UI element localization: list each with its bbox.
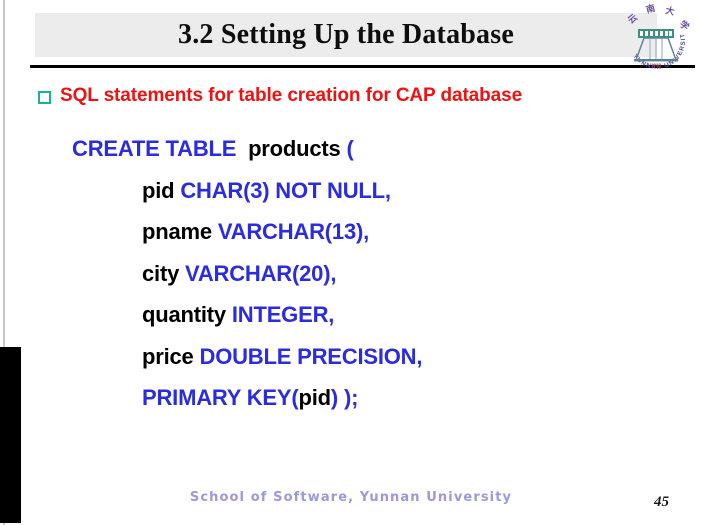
sql-code-line: city VARCHAR(20), [72,253,672,295]
svg-text:南: 南 [645,2,657,16]
sql-keyword: VARCHAR(13), [218,219,369,244]
sql-identifier: pid [142,178,174,203]
sql-identifier: price [142,344,194,369]
svg-text:云: 云 [626,12,640,26]
sql-keyword: ) ); [331,385,358,410]
hollow-square-bullet-icon [38,91,51,104]
bullet-text: SQL statements for table creation for CA… [60,85,522,107]
sql-identifier [236,136,248,161]
sql-identifier: pid [299,385,331,410]
svg-text:大: 大 [664,4,675,18]
yunnan-university-logo: YUNNAN UNIVERSITY 1923 [616,1,696,75]
bullet-row: SQL statements for table creation for CA… [38,82,678,110]
sql-code-line: PRIMARY KEY(pid) ); [72,377,672,419]
svg-text:学: 学 [677,18,691,33]
footer-label: School of Software, Yunnan University [0,490,702,505]
sql-code-line: pid CHAR(3) NOT NULL, [72,170,672,212]
sql-identifier: city [142,261,179,286]
sql-keyword: PRIMARY KEY( [142,385,299,410]
page-title: 3.2 Setting Up the Database [35,13,657,57]
sql-code-block: CREATE TABLE products (pid CHAR(3) NOT N… [72,128,672,419]
sql-keyword: ( [347,136,354,161]
sql-keyword: VARCHAR(20), [185,261,336,286]
sql-code-line: price DOUBLE PRECISION, [72,336,672,378]
sql-keyword: DOUBLE PRECISION, [200,344,423,369]
sql-code-line: CREATE TABLE products ( [72,128,672,170]
sql-identifier: quantity [142,302,226,327]
sql-keyword: CHAR(3) NOT NULL, [180,178,390,203]
sql-code-line: pname VARCHAR(13), [72,211,672,253]
slide-canvas: 3.2 Setting Up the Database YUNNAN UNIVE… [0,0,702,525]
sql-code-line: quantity INTEGER, [72,294,672,336]
sql-identifier: pname [142,219,212,244]
title-divider-rule [30,65,695,68]
sql-keyword: CREATE TABLE [72,136,236,161]
svg-text:1923: 1923 [651,63,662,68]
sql-keyword: INTEGER, [232,302,334,327]
page-number: 45 [654,494,669,511]
sql-identifier: products [248,136,341,161]
